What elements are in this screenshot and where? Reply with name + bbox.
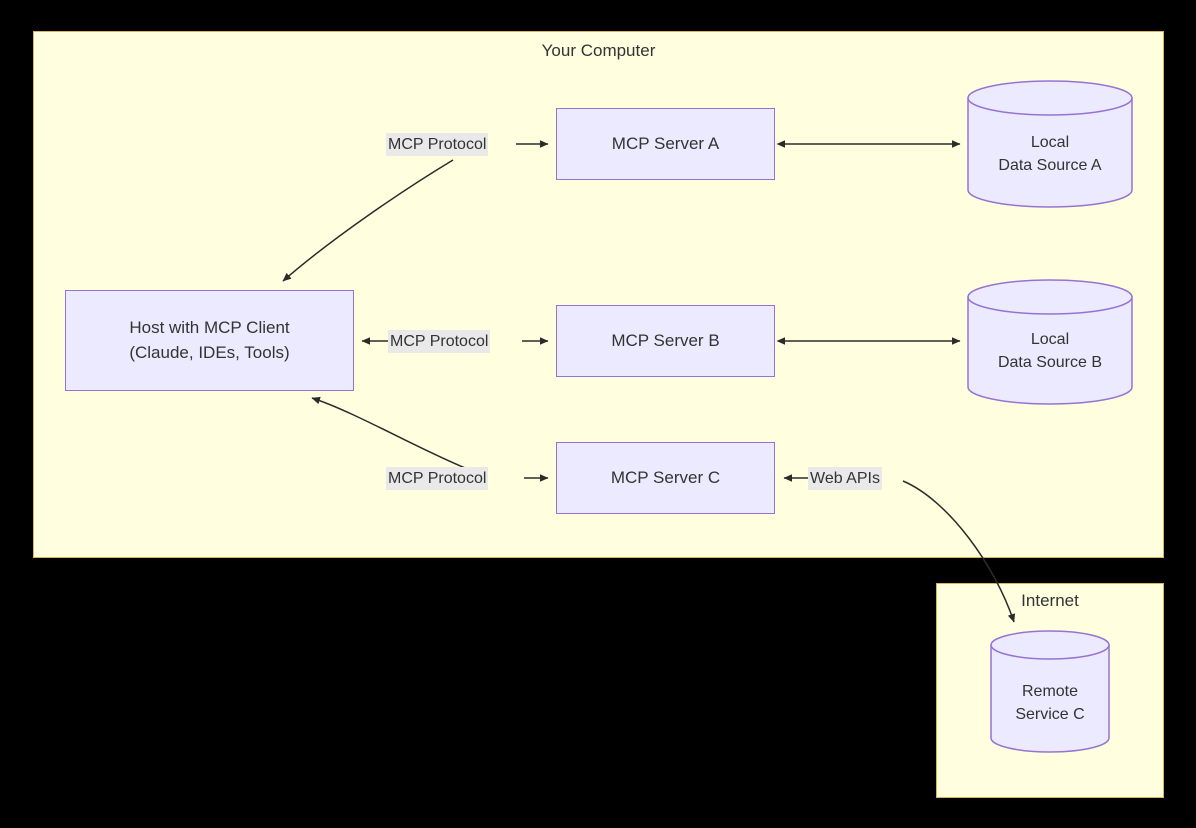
host-line-1: Host with MCP Client [129, 316, 289, 341]
mcp-server-b-label: MCP Server B [611, 329, 719, 354]
diagram-canvas: Your Computer Internet [0, 0, 1196, 828]
cylinder-data-source-a [968, 81, 1132, 207]
node-host-with-mcp-client[interactable]: Host with MCP Client (Claude, IDEs, Tool… [65, 290, 354, 391]
edge-web-apis-to-remote-c [903, 481, 1014, 622]
mcp-server-c-label: MCP Server C [611, 466, 720, 491]
node-mcp-server-a[interactable]: MCP Server A [556, 108, 775, 180]
edge-label-web-apis: Web APIs [808, 467, 882, 490]
edge-server-c-to-host [312, 398, 470, 470]
edge-label-mcp-protocol-a: MCP Protocol [386, 133, 488, 156]
edge-label-mcp-protocol-b: MCP Protocol [388, 330, 490, 353]
node-mcp-server-c[interactable]: MCP Server C [556, 442, 775, 514]
cylinder-remote-service-c [991, 631, 1109, 752]
edge-server-a-to-host [283, 160, 453, 281]
mcp-server-a-label: MCP Server A [612, 132, 719, 157]
host-line-2: (Claude, IDEs, Tools) [129, 341, 289, 366]
edge-label-mcp-protocol-c: MCP Protocol [386, 467, 488, 490]
cylinder-data-source-b [968, 280, 1132, 404]
node-mcp-server-b[interactable]: MCP Server B [556, 305, 775, 377]
